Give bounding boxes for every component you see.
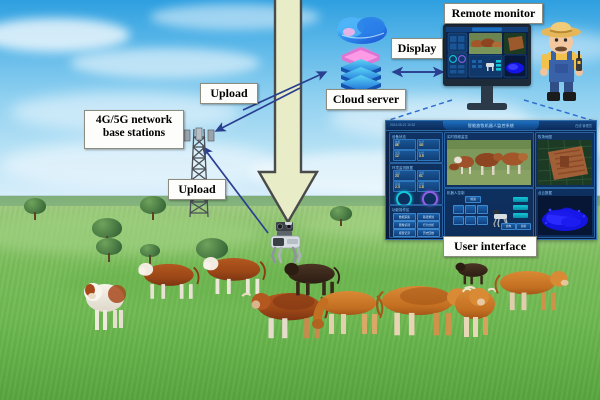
heat-panel[interactable]: 点云数据 [535, 188, 595, 238]
monitor-dashboard-thumb [446, 27, 528, 79]
label-upload-top: Upload [200, 83, 258, 104]
pointcloud-view[interactable] [538, 196, 592, 235]
control-button-aux2[interactable] [477, 216, 488, 225]
stat-tile[interactable]: 里程 12 [393, 150, 416, 161]
stat-value: 2.4 [395, 185, 400, 189]
control-button-stop[interactable] [465, 205, 476, 214]
control-panel[interactable]: 机器人控制 前进 充电 巡检 [444, 188, 534, 238]
tree [140, 196, 166, 220]
dashboard-title: 智能放牧机器人监控系统 [443, 121, 539, 130]
control-button-left[interactable] [453, 205, 464, 214]
monitor-base [467, 103, 507, 110]
label-base-stations: 4G/5G network base stations [84, 110, 184, 149]
control-button[interactable]: 充电 [501, 223, 516, 230]
control-button[interactable]: 前进 [465, 196, 481, 203]
cloud-server-icon [332, 13, 390, 93]
tree [24, 198, 46, 220]
monitor-bezel [443, 24, 531, 86]
label-user-interface: User interface [443, 236, 537, 257]
stat-tile[interactable]: 信号 4G [417, 139, 440, 150]
robot-dog [263, 222, 309, 264]
label-display: Display [391, 38, 443, 59]
action-panel[interactable]: 功能操作区 数据采集 路径规划 图像识别 行为分析 报警记录 历史回放 [389, 205, 443, 238]
figure-canvas: 2024-05-21 10:32 在线 管理员 智能放牧机器人监控系统 设备状态… [0, 0, 600, 400]
heat-panel-title: 点云数据 [538, 190, 552, 195]
label-upload-bottom: Upload [168, 179, 226, 200]
control-button-right[interactable] [477, 205, 488, 214]
satellite-map[interactable] [538, 140, 592, 185]
stat-value: 23 [395, 174, 399, 178]
control-button-aux1[interactable] [453, 216, 464, 225]
status-button-1[interactable] [513, 197, 528, 202]
stat-value: 3.5 [419, 154, 424, 158]
action-button[interactable]: 报警记录 [393, 229, 416, 237]
action-button[interactable]: 图像识别 [393, 221, 416, 229]
stat-tile[interactable]: 湿度 61 [417, 170, 440, 181]
stat-tile[interactable]: 时长 3.5 [417, 150, 440, 161]
sensor-panel[interactable]: 环境监测数据 温度 23 湿度 61 风速 2.4 光照 1.8 [389, 163, 443, 205]
farmer-figure [531, 18, 593, 106]
remote-monitor-device [443, 24, 531, 112]
monitor-neck [481, 86, 493, 104]
control-button[interactable]: 巡检 [516, 223, 531, 230]
cloud-shape [70, 48, 260, 78]
tree [140, 244, 160, 266]
stat-tile[interactable]: 电量 86 [393, 139, 416, 150]
video-panel[interactable]: 实时视频监控 [444, 132, 534, 188]
stat-value: 1.8 [419, 185, 424, 189]
base-station-tower [182, 127, 216, 219]
map-panel[interactable]: 牧场地图 [535, 132, 595, 188]
label-remote-monitor: Remote monitor [444, 3, 543, 24]
map-panel-title: 牧场地图 [538, 134, 552, 139]
tree [96, 238, 122, 262]
video-feed[interactable] [447, 140, 531, 185]
action-button[interactable]: 行为分析 [417, 221, 440, 229]
status-button-3[interactable] [513, 213, 528, 218]
stat-value: 12 [395, 154, 399, 158]
status-panel[interactable]: 设备状态 电量 86 信号 4G 里程 12 时长 3.5 [389, 132, 443, 163]
stat-value: 4G [419, 143, 424, 147]
deployment-arrow [253, 0, 323, 228]
action-panel-title: 功能操作区 [392, 207, 409, 212]
monitor-screen [446, 27, 528, 79]
grass-knoll [60, 262, 480, 302]
control-panel-title: 机器人控制 [447, 190, 464, 195]
action-button[interactable]: 历史回放 [417, 229, 440, 237]
stat-tile[interactable]: 温度 23 [393, 170, 416, 181]
video-panel-title: 实时视频监控 [447, 134, 468, 139]
label-cloud-server: Cloud server [326, 89, 406, 110]
status-button-2[interactable] [513, 205, 528, 210]
action-button[interactable]: 路径规划 [417, 213, 440, 221]
action-button[interactable]: 数据采集 [393, 213, 416, 221]
dashboard-header-right: 在线 管理员 [575, 123, 592, 128]
tree [196, 238, 228, 268]
tree [330, 206, 352, 226]
stat-value: 86 [395, 143, 399, 147]
user-interface-dashboard[interactable]: 2024-05-21 10:32 在线 管理员 智能放牧机器人监控系统 设备状态… [385, 120, 597, 240]
dashboard-header-left: 2024-05-21 10:32 [390, 123, 415, 127]
stat-value: 61 [419, 174, 423, 178]
control-button-back[interactable] [465, 216, 476, 225]
